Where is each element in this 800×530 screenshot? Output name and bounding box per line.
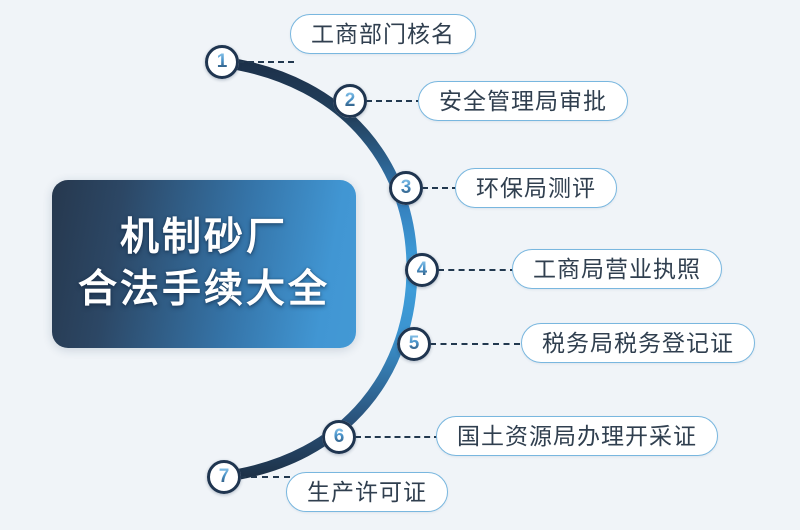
step-marker-6[interactable]: 6 <box>322 420 356 454</box>
step-label-pill-6[interactable]: 国土资源局办理开采证 <box>436 416 718 456</box>
step-marker-5[interactable]: 5 <box>397 327 431 361</box>
step-marker-3[interactable]: 3 <box>389 171 423 205</box>
connector-step-4 <box>438 269 516 271</box>
step-marker-4[interactable]: 4 <box>405 253 439 287</box>
connector-step-2 <box>366 100 422 102</box>
title-line-secondary: 合法手续大全 <box>78 266 330 314</box>
connector-step-6 <box>355 436 440 438</box>
infographic-canvas: 机制砂厂 合法手续大全 1 工商部门核名 2 安全管理局审批 3 环保局测评 4… <box>0 0 800 530</box>
step-number-4: 4 <box>417 260 428 280</box>
step-marker-7[interactable]: 7 <box>207 460 241 494</box>
connector-step-5 <box>430 343 520 345</box>
step-label-pill-2[interactable]: 安全管理局审批 <box>418 81 628 121</box>
title-card: 机制砂厂 合法手续大全 <box>52 180 356 348</box>
step-number-6: 6 <box>334 427 345 447</box>
step-label-pill-5[interactable]: 税务局税务登记证 <box>521 323 755 363</box>
step-label-text-1: 工商部门核名 <box>311 23 455 46</box>
step-marker-2[interactable]: 2 <box>333 84 367 118</box>
step-marker-1[interactable]: 1 <box>205 45 239 79</box>
step-label-text-6: 国土资源局办理开采证 <box>457 425 697 448</box>
step-label-text-2: 安全管理局审批 <box>439 90 607 113</box>
step-number-2: 2 <box>345 91 356 111</box>
title-line-primary: 机制砂厂 <box>120 214 288 262</box>
step-label-text-4: 工商局营业执照 <box>533 258 701 281</box>
step-label-pill-1[interactable]: 工商部门核名 <box>290 14 476 54</box>
step-number-3: 3 <box>401 178 412 198</box>
connector-step-1 <box>238 61 294 63</box>
connector-step-3 <box>422 187 458 189</box>
connector-step-7 <box>240 476 290 478</box>
step-number-5: 5 <box>409 334 420 354</box>
step-label-pill-3[interactable]: 环保局测评 <box>455 168 617 208</box>
step-label-pill-7[interactable]: 生产许可证 <box>286 472 448 512</box>
step-label-text-7: 生产许可证 <box>307 481 427 504</box>
step-label-pill-4[interactable]: 工商局营业执照 <box>512 249 722 289</box>
step-label-text-5: 税务局税务登记证 <box>542 332 734 355</box>
step-number-1: 1 <box>217 52 228 72</box>
step-label-text-3: 环保局测评 <box>476 177 596 200</box>
step-number-7: 7 <box>219 467 230 487</box>
